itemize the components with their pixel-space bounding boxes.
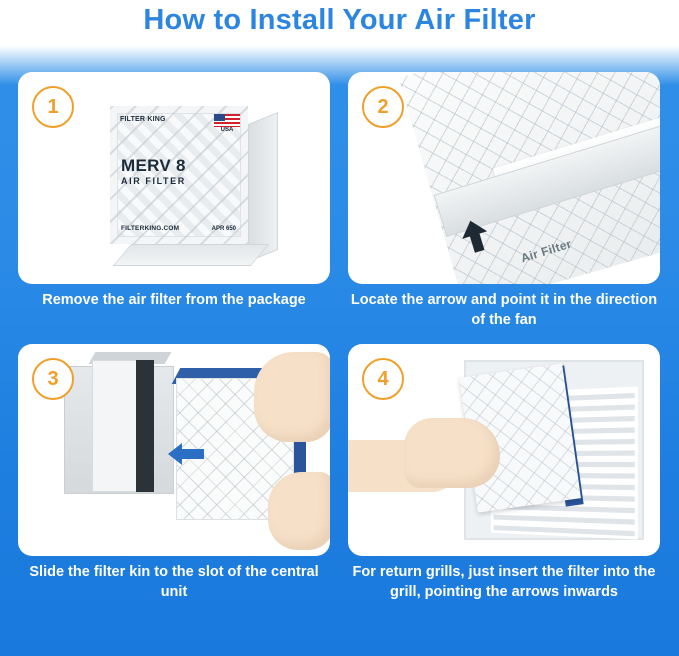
step-1-badge: 1 xyxy=(32,86,74,128)
step-1-card: 1 FILTER KING USA MERV 8 AIR FILTER FILT… xyxy=(18,72,330,284)
central-unit-slot-opening xyxy=(136,360,154,492)
filter-bottom-panel xyxy=(113,244,269,266)
step-1: 1 FILTER KING USA MERV 8 AIR FILTER FILT… xyxy=(18,72,330,330)
step-3-badge: 3 xyxy=(32,358,74,400)
step-2-badge: 2 xyxy=(362,86,404,128)
step-1-illustration: FILTER KING USA MERV 8 AIR FILTER FILTER… xyxy=(96,94,286,264)
infographic-root: How to Install Your Air Filter 1 FILTER … xyxy=(0,0,679,656)
step-3: 3 Slide xyxy=(18,344,330,602)
step-4-caption: For return grills, just insert the filte… xyxy=(348,556,660,602)
apr-code-label: APR 650 xyxy=(212,226,236,232)
page-title: How to Install Your Air Filter xyxy=(0,4,679,37)
step-3-caption: Slide the filter kin to the slot of the … xyxy=(18,556,330,602)
hand-holding-filter xyxy=(404,418,500,488)
step-4-card: 4 xyxy=(348,344,660,556)
merv-rating-label: MERV 8 xyxy=(121,156,186,176)
step-4: 4 For return grills, just insert the fil… xyxy=(348,344,660,602)
filter-label: FILTER KING USA MERV 8 AIR FILTER FILTER… xyxy=(118,114,240,234)
flag-stripes-icon xyxy=(214,114,240,127)
step-2-card: 2 Air Filter xyxy=(348,72,660,284)
step-2-caption: Locate the arrow and point it in the dir… xyxy=(348,284,660,330)
flag-label: USA xyxy=(221,127,234,133)
arrow-left-icon xyxy=(166,440,206,468)
step-3-card: 3 xyxy=(18,344,330,556)
hand-upper xyxy=(254,352,330,442)
step-4-badge: 4 xyxy=(362,358,404,400)
filter-side-panel xyxy=(248,112,278,262)
filter-type-label: AIR FILTER xyxy=(121,176,186,186)
step-2: 2 Air Filter Locate the arrow and point … xyxy=(348,72,660,330)
usa-flag-icon: USA xyxy=(214,114,240,133)
steps-grid: 1 FILTER KING USA MERV 8 AIR FILTER FILT… xyxy=(18,72,661,602)
hand-lower xyxy=(268,472,330,550)
step-1-caption: Remove the air filter from the package xyxy=(18,284,330,311)
website-label: FILTERKING.COM xyxy=(121,225,179,232)
brand-label: FILTER KING xyxy=(120,116,166,124)
